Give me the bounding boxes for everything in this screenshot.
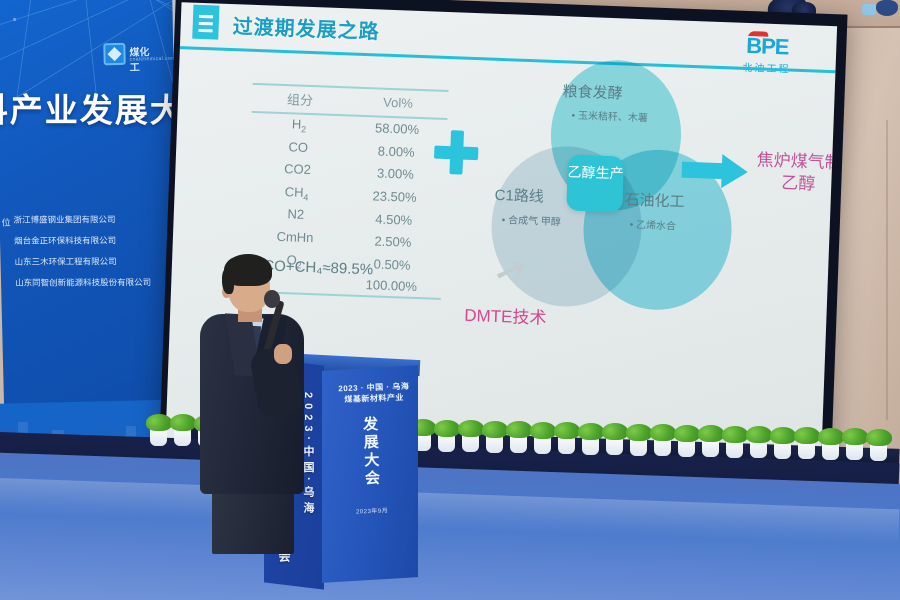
list-lines-icon <box>192 5 219 40</box>
banner-logo-mark-icon <box>103 43 126 66</box>
podium-side-title: 发展大会 <box>359 416 383 489</box>
venn-center-badge: 乙醇生产 <box>566 154 624 212</box>
podium-side-heading: 2023 · 中国 · 乌海 煤基新材料产业 <box>336 381 413 406</box>
sponsor-prefix: 位 <box>1 216 10 229</box>
speaker-hair <box>224 254 272 286</box>
wall-seam <box>886 120 888 420</box>
stage-light <box>862 4 876 15</box>
venn-label-c1: C1路线 <box>494 184 544 207</box>
speaker-legs <box>212 484 294 554</box>
bpe-logo-mark: BPE <box>746 35 789 59</box>
venn-bullet-c1: • 合成气 甲醇 <box>502 211 562 228</box>
venn-label-petro: 石油化工 <box>624 189 685 212</box>
banner-logo-subtext: coalchemical.com <box>130 56 176 63</box>
dmte-label: DMTE技术 <box>464 301 547 329</box>
podium-side-date: 2023年9月 <box>356 505 388 515</box>
result-label: 焦炉煤气制乙醇 <box>753 149 837 196</box>
banner-logo: 煤化工 coalchemical.com <box>103 42 158 69</box>
column-header-component: 组分 <box>252 85 349 114</box>
microphone-icon <box>264 290 280 308</box>
venn-bullet-grain: • 玉米秸秆、木薯 <box>571 107 648 125</box>
speaker-person <box>196 252 314 552</box>
column-header-volume: Vol% <box>348 88 449 117</box>
venn-label-grain: 粮食发酵 <box>562 80 623 103</box>
venn-bullet-petro: • 乙烯水合 <box>629 216 676 233</box>
slide-title: 过渡期发展之路 <box>232 10 380 44</box>
speaker-hand <box>274 344 292 364</box>
stage-light <box>876 0 898 16</box>
conference-stage-photo: 煤化工 coalchemical.com 料产业发展大会 位 浙江博盛钢业集团有… <box>0 0 900 600</box>
plus-icon <box>433 130 479 176</box>
right-arrow-icon <box>681 153 748 189</box>
